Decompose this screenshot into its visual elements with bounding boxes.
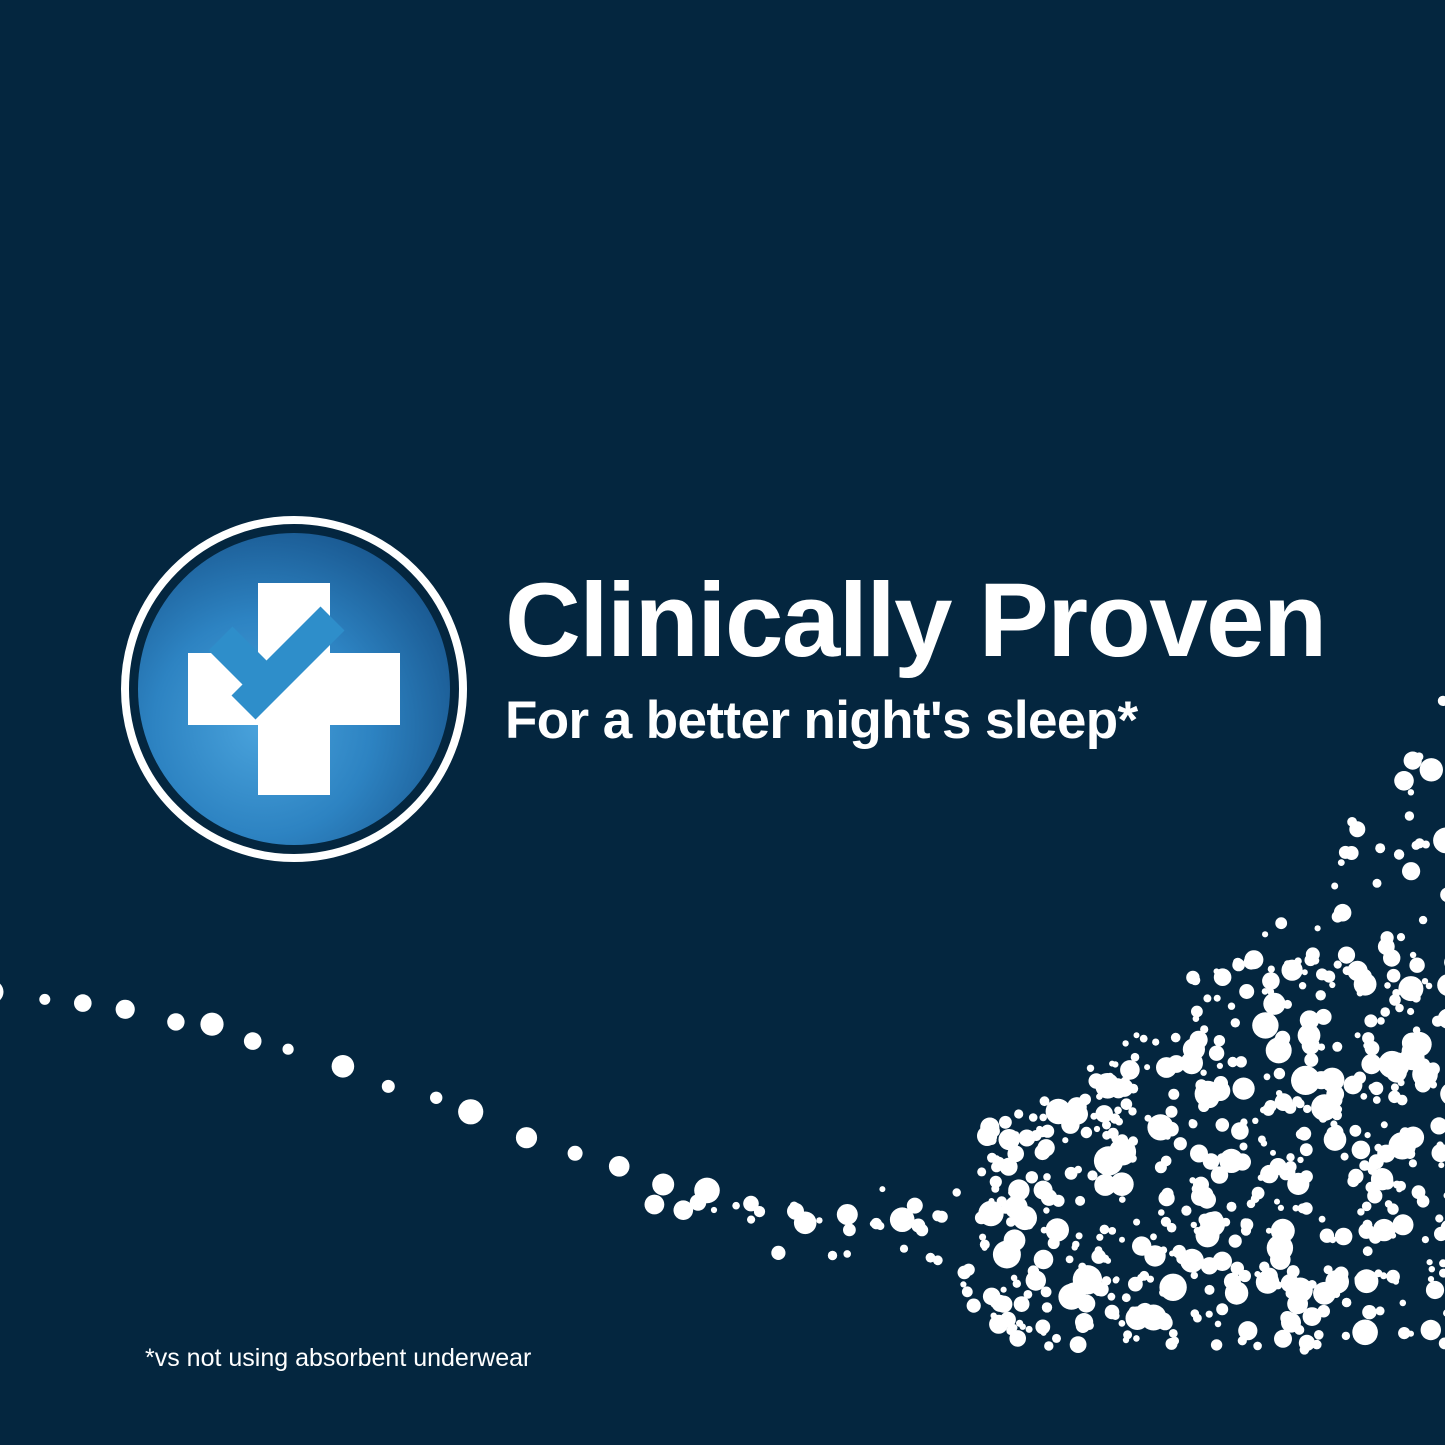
footnote-disclaimer: *vs not using absorbent underwear [145,1343,531,1373]
clinically-proven-seal [120,515,468,863]
page-title: Clinically Proven [505,568,1385,673]
headline-block: Clinically Proven For a better night's s… [505,568,1385,749]
subtitle: For a better night's sleep* [505,673,1385,749]
promo-banner: Clinically Proven For a better night's s… [0,0,1445,1445]
